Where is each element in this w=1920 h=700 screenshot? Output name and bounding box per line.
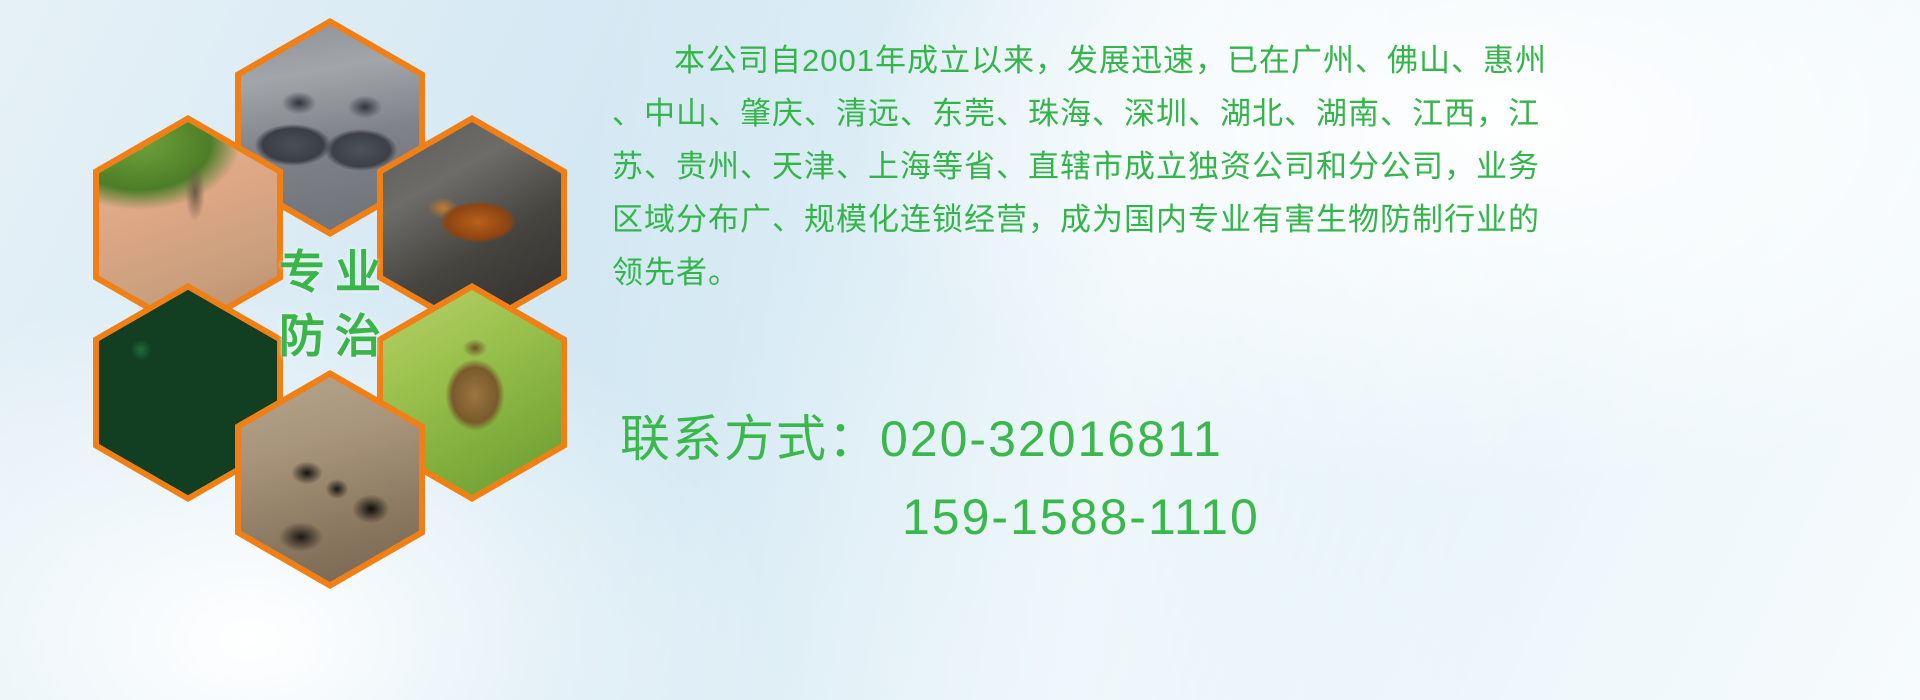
intro-line-5: 领先者。 [612, 246, 1912, 299]
contact-phone-landline[interactable]: 联系方式：020-32016811 [620, 400, 1900, 478]
contact-block: 联系方式：020-32016811 159-1588-1110 [620, 400, 1900, 556]
badge-text-hexagon: 专业 防治 [235, 194, 425, 413]
contact-phone-mobile[interactable]: 159-1588-1110 [620, 478, 1900, 556]
promo-banner: 专业 防治 本公司自2001年成立以来，发展迅速，已在广州、佛山、惠州 、中山、… [0, 0, 1920, 700]
company-intro-paragraph: 本公司自2001年成立以来，发展迅速，已在广州、佛山、惠州 、中山、肇庆、清远、… [612, 34, 1912, 299]
intro-line-2: 、中山、肇庆、清远、东莞、珠海、深圳、湖北、湖南、江西，江 [612, 87, 1912, 140]
badge-line-2: 防治 [269, 304, 391, 368]
hexagon-photo-cluster: 专业 防治 [80, 10, 600, 570]
badge-line-1: 专业 [269, 240, 391, 304]
intro-line-3: 苏、贵州、天津、上海等省、直辖市成立独资公司和分公司，业务 [612, 140, 1912, 193]
intro-line-4: 区域分布广、规模化连锁经营，成为国内专业有害生物防制行业的 [612, 193, 1912, 246]
intro-line-1: 本公司自2001年成立以来，发展迅速，已在广州、佛山、惠州 [612, 34, 1912, 87]
